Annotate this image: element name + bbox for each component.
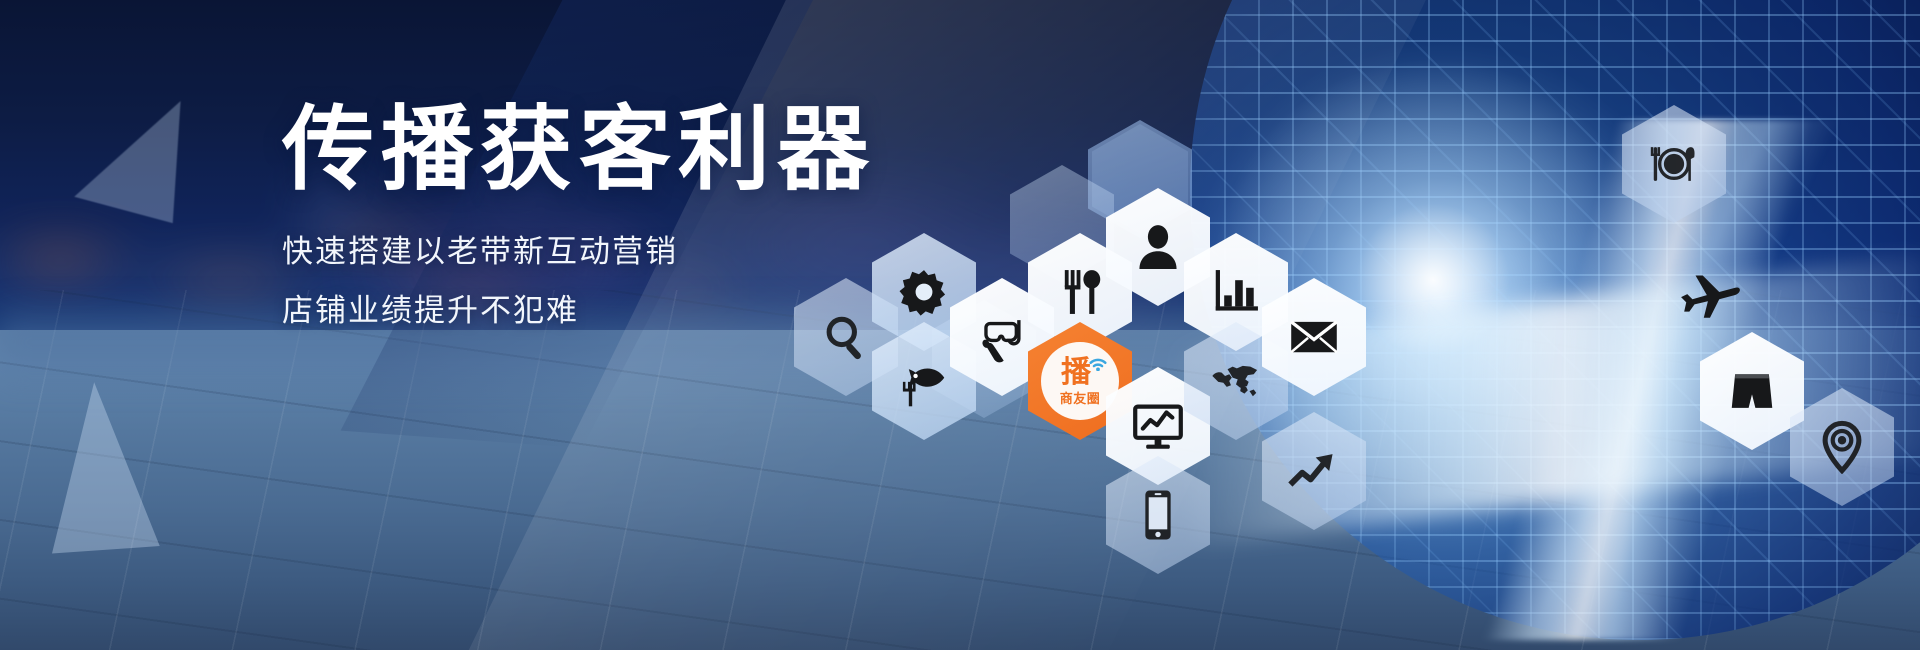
- hexagon-icon-cluster: 播 商友圈: [770, 120, 1530, 520]
- trend-up-arrow-icon: [1287, 444, 1341, 498]
- fish-fork-icon: [897, 354, 951, 408]
- shorts-clothing-icon: [1725, 364, 1779, 418]
- brand-logo-character: 播: [1061, 358, 1091, 388]
- monitor-linechart-icon: [1131, 399, 1185, 453]
- promotional-banner: 传播获客利器 快速搭建以老带新互动营销 店铺业绩提升不犯难: [0, 0, 1920, 650]
- brand-logo-wordmark: 商友圈: [1060, 392, 1101, 405]
- airplane-icon: [1678, 262, 1744, 322]
- magnifier-icon: [819, 310, 873, 364]
- gear-icon: [897, 265, 951, 319]
- wifi-broadcast-icon: [1088, 353, 1108, 371]
- world-map-icon: [1209, 354, 1263, 408]
- bar-chart-icon: [1209, 265, 1263, 319]
- plate-cutlery-icon: [1647, 137, 1701, 191]
- fork-spoon-icon: [1053, 265, 1107, 319]
- envelope-icon: [1287, 310, 1341, 364]
- hex-tile-growth[interactable]: [1262, 412, 1366, 530]
- snorkel-mask-icon: [975, 310, 1029, 364]
- user-person-icon: [1131, 220, 1185, 274]
- map-pin-icon: [1815, 420, 1869, 474]
- smartphone-icon: [1131, 488, 1185, 542]
